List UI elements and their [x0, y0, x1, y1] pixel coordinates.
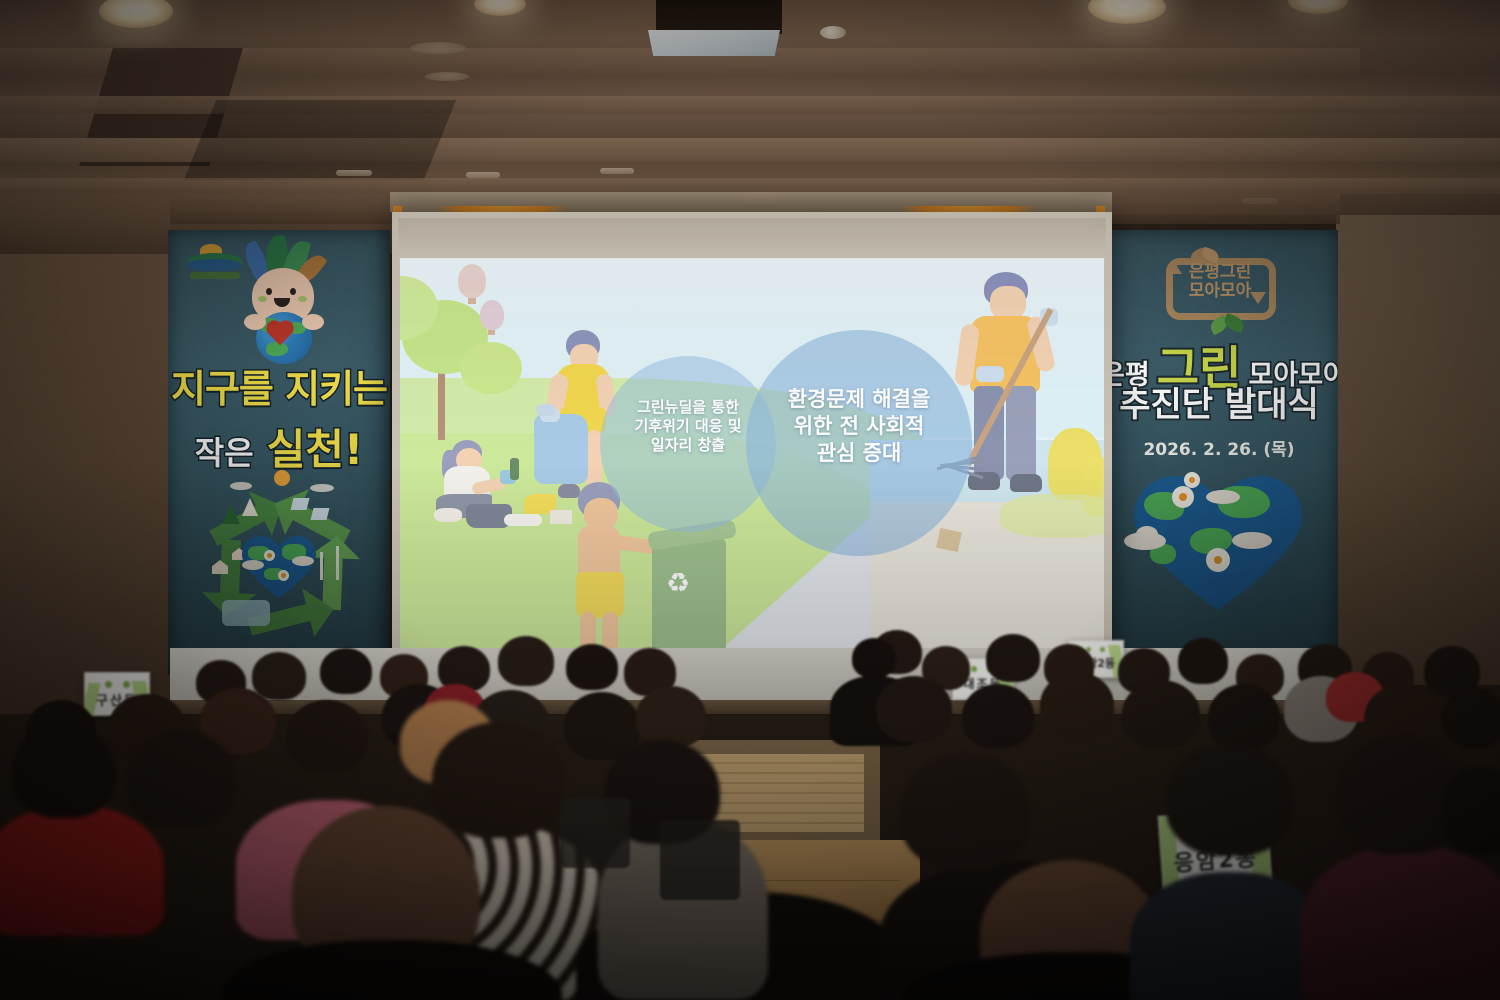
left-banner-headline-2-small: 작은 [195, 434, 254, 472]
ceiling-recess-2 [425, 72, 469, 81]
recycle-arrow-top-right [263, 473, 362, 564]
mascot-earth [256, 312, 312, 364]
slide-leaf-pile [1000, 494, 1104, 538]
balloon-basket-2 [488, 330, 495, 335]
gov-logo-icon [186, 244, 244, 284]
daisy-icon-3 [1206, 548, 1230, 572]
auditorium-photo: 지구를 지키는 작은 실천! [0, 0, 1500, 1000]
tree-trunk-1 [438, 366, 445, 440]
mascot-leaf-3 [281, 238, 312, 284]
right-banner-subtitle: 추진단 발대식 [1100, 388, 1338, 422]
title-leaf-icon-2 [1222, 313, 1246, 333]
hot-air-balloon-1 [458, 264, 486, 298]
heart-earth-emblem [1120, 470, 1320, 620]
logo-arrow-up-icon [1166, 262, 1182, 274]
hot-air-balloon-2 [480, 300, 504, 330]
audience-head [126, 730, 236, 828]
recycle-arrow-top-left [199, 476, 293, 563]
audience-head [1122, 680, 1200, 748]
mascot-heart-icon [269, 323, 292, 346]
right-banner-title: 은평 그린 모아모아 [1100, 332, 1338, 398]
recycling-symbol-icon: ♻ [666, 568, 690, 599]
audience-head-standing-speaker [852, 638, 896, 678]
audience-head [962, 684, 1034, 748]
right-banner-date: 2026. 2. 26. (목) [1100, 435, 1338, 460]
audience-head [900, 752, 1030, 870]
audience-head [12, 724, 116, 818]
mascot-arm-left [244, 314, 266, 330]
mascot-leaf-4 [293, 250, 327, 287]
audience-head [876, 676, 952, 742]
chair-back-2 [660, 820, 740, 900]
audience-head [1166, 744, 1294, 856]
ceiling-recess-1 [410, 42, 466, 54]
bubble-right-line1: 환경문제 해결을 [746, 386, 972, 413]
ceiling-projector-housing [656, 0, 782, 34]
audience-head [498, 636, 554, 686]
mascot-leaf-2 [264, 235, 290, 281]
audience-head [1208, 684, 1280, 750]
audience-head [1040, 672, 1114, 738]
cloud-icon-right [1232, 532, 1272, 549]
ceiling-slit-2 [336, 170, 372, 176]
ceiling-slit-3 [466, 172, 500, 178]
audience-head [286, 700, 368, 772]
slide-debris [936, 528, 962, 552]
logo-arrow-down-icon [1250, 292, 1266, 304]
logo-line-2: 모아모아 [1156, 283, 1284, 301]
daisy-icon-1 [1172, 486, 1194, 508]
daisy-icon-2 [1184, 472, 1200, 488]
left-banner-headline-2-big: 실천! [267, 425, 363, 474]
logo-line-1: 은평그린 [1156, 264, 1284, 282]
audience-shoulders-maroon [1300, 846, 1500, 1000]
cloud-icon-left [1124, 532, 1166, 550]
mascot-arm-right [302, 314, 324, 330]
projection-screen-top-blank [398, 218, 1106, 262]
audience-head [566, 644, 618, 690]
eunpyeong-green-logo: 은평그린 모아모아 [1156, 252, 1284, 318]
title-small-right: 모아모아 [1249, 360, 1338, 391]
ceiling-beam-shadow [184, 100, 456, 180]
audience-head [432, 722, 566, 838]
audience-head [252, 652, 306, 700]
audience-head [1442, 688, 1500, 748]
bubble-right-line3: 관심 증대 [746, 440, 972, 467]
balloon-basket-1 [468, 298, 476, 304]
audience-head [320, 648, 372, 694]
title-big: 그린 [1157, 341, 1242, 395]
mascot-figure [230, 238, 334, 370]
mascot-leaf-1 [240, 240, 275, 284]
smoke-detector-icon [820, 26, 846, 39]
audience-head [1178, 638, 1228, 684]
bubble-right-line2: 위한 전 사회적 [746, 413, 972, 440]
bubble-right-text: 환경문제 해결을 위한 전 사회적 관심 증대 [746, 386, 972, 467]
cloud-icon-left-bump [1136, 526, 1158, 542]
cloud-icon-top [1206, 490, 1240, 504]
audience-shoulders-red [0, 806, 164, 936]
left-banner-headline-1: 지구를 지키는 [168, 370, 390, 410]
blue-trash-bag [534, 414, 588, 484]
emblem-heart-earth [242, 536, 316, 598]
projector-plate [648, 30, 780, 56]
tree-crown-3 [460, 342, 522, 394]
mascot-head [252, 268, 314, 324]
audience-head [986, 634, 1040, 682]
ceiling-slit-4 [600, 168, 634, 174]
chair-back [560, 798, 630, 868]
audience-head [636, 686, 706, 748]
title-leaf-icon [1208, 315, 1230, 336]
